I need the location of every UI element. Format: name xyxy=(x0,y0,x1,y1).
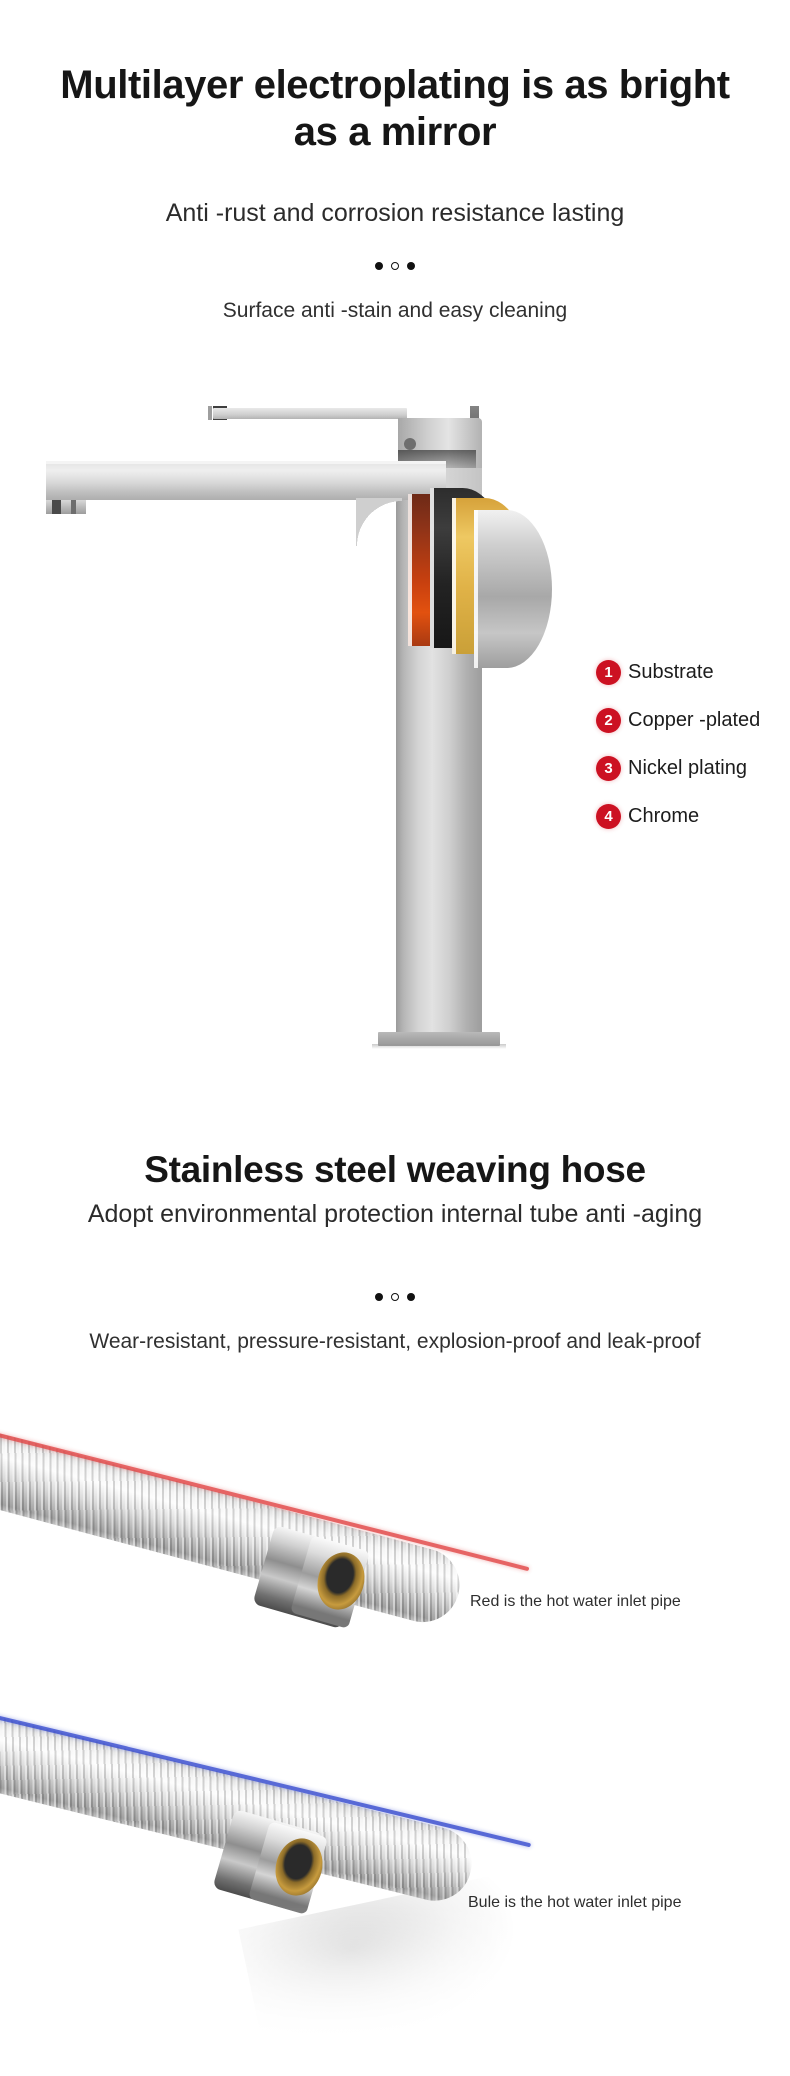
faucet-cap-knob xyxy=(404,438,416,450)
dot-separator-2 xyxy=(0,1293,790,1301)
section1-note: Surface anti -stain and easy cleaning xyxy=(0,297,790,324)
legend-badge-2: 2 xyxy=(596,708,621,733)
plating-layers-graphic xyxy=(408,488,628,688)
faucet-lever-cap xyxy=(208,406,212,420)
faucet-lever-handle xyxy=(213,408,407,419)
section1-heading: Multilayer electroplating is as bright a… xyxy=(0,62,790,156)
bottom-fade xyxy=(0,1906,790,2076)
section1-subheading: Anti -rust and corrosion resistance last… xyxy=(0,198,790,229)
dot-filled xyxy=(375,262,383,270)
layer-edge xyxy=(430,488,434,648)
caption-red-hose: Red is the hot water inlet pipe xyxy=(470,1593,681,1611)
section2-note: Wear-resistant, pressure-resistant, expl… xyxy=(0,1328,790,1355)
dot-filled xyxy=(407,1293,415,1301)
legend-label-4: Chrome xyxy=(628,805,699,828)
dot-hollow xyxy=(391,1293,399,1301)
plating-layer-chrome xyxy=(474,510,552,668)
faucet-spout-arm xyxy=(46,464,446,500)
legend-label-2: Copper -plated xyxy=(628,709,760,732)
caption-blue-hose: Bule is the hot water inlet pipe xyxy=(468,1894,681,1912)
legend-badge-1: 1 xyxy=(596,660,621,685)
plating-legend-list: 1 Substrate 2 Copper -plated 3 Nickel pl… xyxy=(596,660,790,852)
section2-heading: Stainless steel weaving hose xyxy=(0,1148,790,1192)
layer-edge xyxy=(408,494,412,646)
section2-subheading: Adopt environmental protection internal … xyxy=(0,1198,790,1231)
faucet-aerator-slot xyxy=(52,500,61,514)
hose-photo xyxy=(0,1380,790,2076)
dot-filled xyxy=(407,262,415,270)
hose-braided-upper xyxy=(0,1393,468,1630)
legend-label-3: Nickel plating xyxy=(628,757,747,780)
layer-edge xyxy=(474,510,478,668)
dot-separator-1 xyxy=(0,262,790,270)
legend-item-copper: 2 Copper -plated xyxy=(596,708,790,733)
legend-badge-3: 3 xyxy=(596,756,621,781)
faucet-elbow xyxy=(356,498,402,546)
legend-item-nickel: 3 Nickel plating xyxy=(596,756,790,781)
legend-item-substrate: 1 Substrate xyxy=(596,660,790,685)
dot-filled xyxy=(375,1293,383,1301)
product-detail-page: Multilayer electroplating is as bright a… xyxy=(0,0,790,2076)
dot-hollow xyxy=(391,262,399,270)
faucet-base-shadow xyxy=(372,1044,506,1049)
legend-label-1: Substrate xyxy=(628,661,714,684)
legend-badge-4: 4 xyxy=(596,804,621,829)
faucet-aerator-slot-2 xyxy=(71,500,76,514)
layer-edge xyxy=(452,498,456,654)
legend-item-chrome: 4 Chrome xyxy=(596,804,790,829)
